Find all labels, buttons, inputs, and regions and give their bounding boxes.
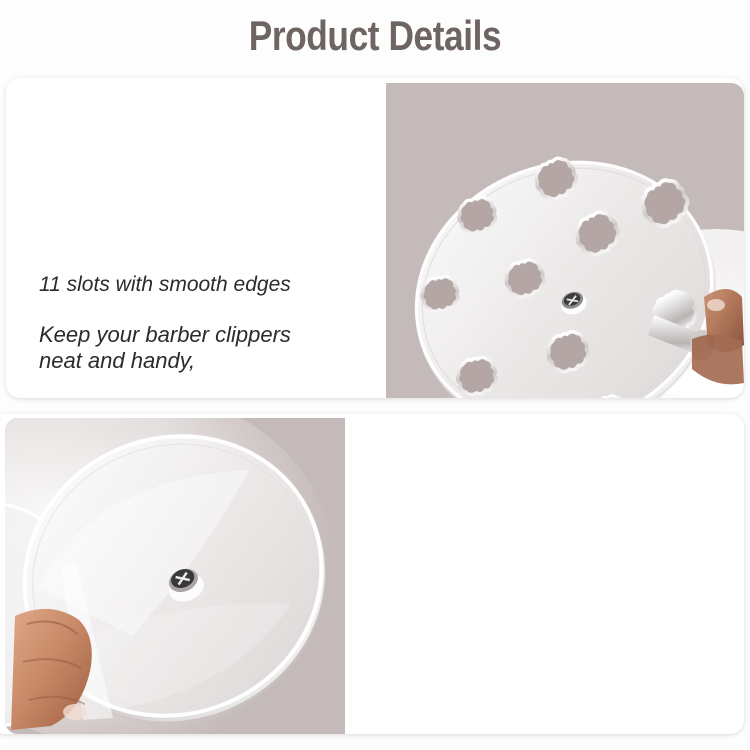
- slots-subtext-line-1: Keep your barber clippers: [39, 322, 291, 347]
- slots-product-illustration: [386, 83, 744, 398]
- product-details-page: Product Details 11 slots with smooth edg…: [0, 0, 750, 750]
- detail-card-base: Stabilizing base Not easily tipped over: [0, 414, 744, 734]
- slots-subtext: Keep your barber clippers neat and handy…: [39, 322, 369, 373]
- base-product-photo: [5, 418, 345, 734]
- slots-subtext-line-2: neat and handy,: [39, 348, 195, 373]
- slots-text-block: 11 slots with smooth edges Keep your bar…: [39, 274, 369, 373]
- page-title: Product Details: [60, 14, 690, 58]
- slots-product-photo: [386, 83, 744, 398]
- detail-card-slots: 11 slots with smooth edges Keep your bar…: [6, 78, 744, 398]
- base-product-illustration: [5, 418, 345, 734]
- slots-headline: 11 slots with smooth edges: [39, 274, 369, 295]
- hand: [11, 609, 92, 730]
